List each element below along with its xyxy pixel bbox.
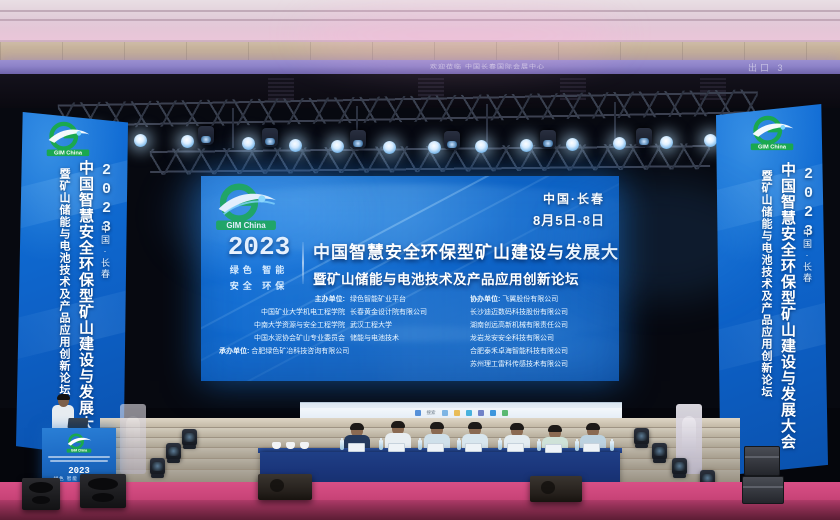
water-bottle	[498, 440, 502, 450]
par-light	[242, 137, 255, 150]
truss-hanger	[232, 108, 234, 148]
podium-title-lines	[48, 456, 110, 464]
ceiling	[0, 0, 840, 42]
host-col1-item: 中南大学资源与安全工程学院	[219, 320, 345, 333]
name-plate	[507, 443, 524, 452]
ceiling-strip-text-right: 出口 3	[748, 61, 786, 74]
host-label: 主办单位:	[219, 294, 345, 307]
par-light	[134, 134, 147, 147]
name-plate	[427, 443, 444, 452]
moving-head-light	[198, 126, 214, 145]
undertaker-label: 承办单位:	[219, 348, 249, 355]
name-plate	[465, 443, 482, 452]
moving-head-light	[350, 130, 366, 149]
cohost-item: 飞翼股份有限公司	[502, 296, 558, 303]
right-pillar-title-sub: 暨矿山储能与电池技术及产品应用创新论坛	[758, 170, 774, 398]
store-icon[interactable]	[502, 410, 508, 416]
host-col2-item: 储能与电池技术	[350, 333, 470, 346]
par-light	[660, 136, 673, 149]
undertaker-name: 合肥绿色矿冶科技咨询有限公司	[251, 348, 349, 355]
event-date: 8月5日-8日	[533, 210, 605, 229]
event-title-main: 中国智慧安全环保型矿山建设与发展大会	[313, 238, 619, 263]
water-bottle	[340, 440, 344, 450]
windows-taskbar[interactable]: 搜索	[300, 408, 622, 418]
name-plate	[545, 444, 562, 453]
carpet-shadow	[0, 500, 840, 520]
widgets-icon[interactable]	[442, 410, 448, 416]
road-case	[742, 476, 784, 504]
name-plate	[583, 443, 600, 452]
event-slogan-line1: 绿色 智能	[219, 263, 299, 276]
gim-china-logo-podium: GIM China	[62, 433, 96, 455]
line-array-speaker	[22, 478, 60, 510]
cohost-item: 长沙迪迈数码科技股份有限公司	[470, 307, 616, 320]
event-year-block: 2023 绿色 智能 安全 环保	[219, 234, 299, 292]
event-city: 中国·长春	[533, 190, 605, 207]
host-col2-item: 长春黄金设计院有限公司	[350, 307, 470, 320]
water-bottle	[418, 440, 422, 450]
moving-head-light	[540, 130, 556, 149]
floor-moving-light	[672, 458, 687, 475]
taskbar-search-label[interactable]: 搜索	[427, 410, 436, 416]
gim-china-logo-right-pillar: GIM China	[746, 114, 798, 154]
gim-china-logo-main: GIM China	[211, 182, 281, 236]
svg-text:GIM China: GIM China	[758, 145, 787, 151]
left-pillar-title-sub: 暨矿山储能与电池技术及产品应用创新论坛	[56, 168, 72, 396]
par-light	[428, 141, 441, 154]
file-explorer-icon[interactable]	[454, 410, 460, 416]
par-light	[475, 140, 488, 153]
balustrade	[120, 404, 146, 474]
event-title-sub: 暨矿山储能与电池技术及产品应用创新论坛	[313, 268, 619, 288]
water-bottle	[575, 441, 579, 451]
par-light	[613, 137, 626, 150]
floor-moving-light	[150, 458, 165, 475]
par-light	[704, 134, 717, 147]
moving-head-light	[444, 131, 460, 150]
water-bottle	[537, 441, 541, 451]
stage-monitor-speaker	[530, 476, 582, 502]
line-array-speaker	[80, 474, 126, 508]
ceiling-light-strip	[0, 60, 840, 74]
cohost-item: 苏州理工雷科传感技术有限公司	[470, 359, 616, 372]
conference-stage-photo: 欢迎莅临 中国长春国际会展中心 出口 3 GIM C	[0, 0, 840, 520]
cohost-item: 湖南创远高新机械有限责任公司	[470, 320, 616, 333]
water-bottle	[457, 440, 461, 450]
windows-start-icon[interactable]	[415, 410, 421, 416]
water-bottle	[379, 440, 383, 450]
event-location-block: 中国·长春 8月5日-8日	[533, 190, 605, 229]
host-column-a: 绿色智能矿业平台 长春黄金设计院有限公司 武汉工程大学 储能与电池技术	[350, 294, 470, 372]
name-plate	[388, 443, 405, 452]
cohost-label: 协办单位:	[470, 296, 500, 303]
ceiling-stone-band	[0, 42, 840, 60]
tea-cup	[300, 442, 309, 449]
floor-moving-light	[166, 443, 181, 460]
name-plate	[348, 443, 365, 452]
moving-head-light	[262, 128, 278, 147]
mail-icon[interactable]	[490, 410, 496, 416]
par-light	[383, 141, 396, 154]
title-divider	[302, 242, 304, 284]
undertaker-row: 承办单位: 合肥绿色矿冶科技咨询有限公司	[219, 346, 519, 356]
par-light	[566, 138, 579, 151]
host-col1-item: 中国矿业大学机电工程学院	[219, 307, 345, 320]
event-slogan-line2: 安全 环保	[219, 279, 299, 292]
host-col1-item: 绿色智能矿业平台	[350, 294, 470, 307]
left-pillar-city: 中国·长春	[99, 224, 112, 280]
water-bottle	[610, 441, 614, 451]
right-pillar-city: 中国·长春	[801, 228, 814, 284]
moving-head-light	[636, 128, 652, 147]
par-light	[181, 135, 194, 148]
par-light	[289, 139, 302, 152]
event-year: 2023	[219, 234, 299, 260]
host-label-column: 主办单位: 中国矿业大学机电工程学院 中南大学资源与安全工程学院 中国水泥协会矿…	[219, 294, 350, 372]
par-light	[520, 139, 533, 152]
floor-moving-light	[652, 443, 667, 460]
cohost-item: 龙岩龙安安全科技有限公司	[470, 333, 616, 346]
gim-china-logo-left-pillar: GIM China	[42, 120, 94, 160]
host-col1-item: 中国水泥协会矿山专业委员会	[219, 333, 345, 346]
podium-laptop	[67, 418, 88, 428]
ceiling-strip-text: 欢迎莅临 中国长春国际会展中心	[430, 63, 710, 71]
teams-icon[interactable]	[478, 410, 484, 416]
svg-text:GIM China: GIM China	[226, 221, 266, 230]
ceiling-vent	[268, 78, 294, 100]
tea-cup	[286, 442, 295, 449]
left-pillar-title-main: 中国智慧安全环保型矿山建设与发展大会	[75, 160, 96, 448]
road-case	[744, 446, 780, 476]
organizers-block: 主办单位: 中国矿业大学机电工程学院 中南大学资源与安全工程学院 中国水泥协会矿…	[219, 294, 611, 372]
svg-text:GIM China: GIM China	[71, 449, 87, 453]
svg-text:GIM China: GIM China	[54, 151, 83, 157]
tea-cup	[272, 442, 281, 449]
main-led-screen: GIM China 中国·长春 8月5日-8日 2023 绿色 智能 安全 环保…	[201, 176, 619, 381]
cohost-column: 协办单位: 飞翼股份有限公司 长沙迪迈数码科技股份有限公司 湖南创远高新机械有限…	[470, 294, 616, 372]
event-titles: 中国智慧安全环保型矿山建设与发展大会 暨矿山储能与电池技术及产品应用创新论坛	[313, 238, 619, 288]
edge-icon[interactable]	[466, 410, 472, 416]
floor-moving-light	[182, 429, 197, 446]
stage-monitor-speaker	[258, 474, 312, 500]
floor-moving-light	[634, 428, 649, 445]
event-title-row: 2023 绿色 智能 安全 环保 中国智慧安全环保型矿山建设与发展大会 暨矿山储…	[219, 234, 605, 292]
right-pillar-title-main: 中国智慧安全环保型矿山建设与发展大会	[777, 162, 798, 450]
host-col2-item: 武汉工程大学	[350, 320, 470, 333]
par-light	[331, 140, 344, 153]
